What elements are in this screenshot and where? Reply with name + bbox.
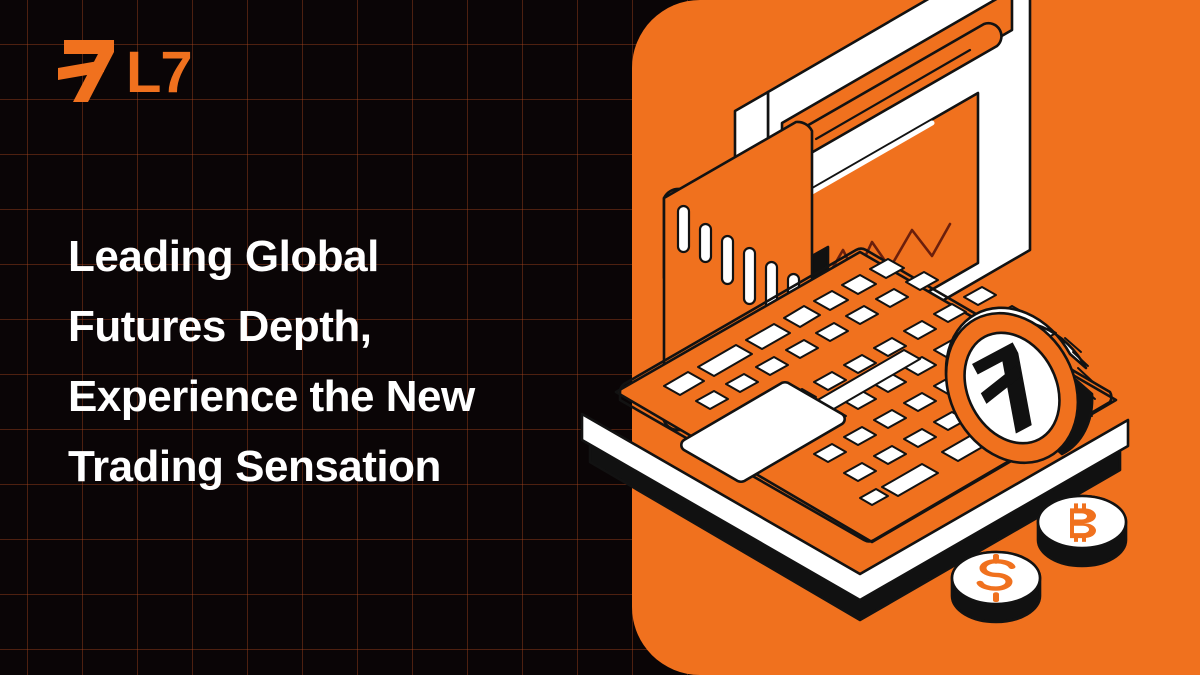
page-title: Leading Global Futures Depth, Experience… [68, 222, 568, 502]
headline-line-1: Leading Global [68, 222, 568, 292]
dollar-coin [952, 552, 1040, 622]
bitcoin-coin [1038, 496, 1126, 566]
isometric-laptop-illustration [560, 0, 1200, 675]
logo-wordmark: L7 [126, 44, 192, 102]
headline-line-2: Futures Depth, [68, 292, 568, 362]
promo-banner: L7 Leading Global Futures Depth, Experie… [0, 0, 1200, 675]
brand-logo[interactable]: L7 [58, 40, 192, 106]
seven-strike-icon [58, 38, 120, 109]
headline-line-4: Trading Sensation [68, 432, 568, 502]
headline-line-3: Experience the New [68, 362, 568, 432]
